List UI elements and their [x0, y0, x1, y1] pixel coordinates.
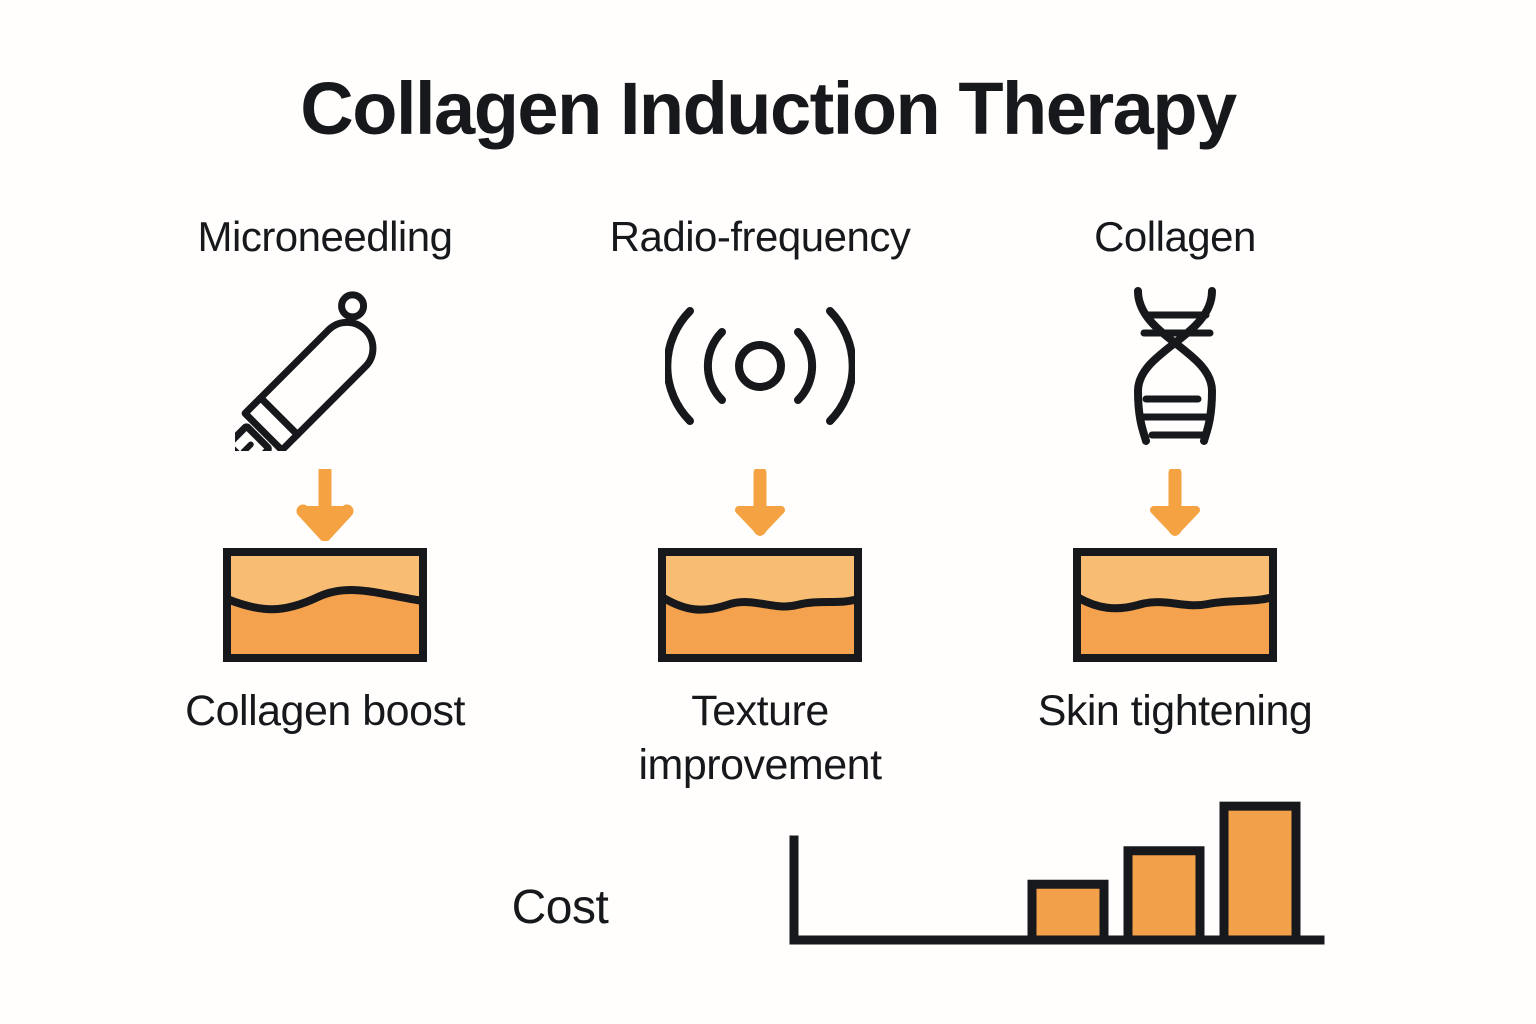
- infographic-canvas: Collagen Induction Therapy Microneedling: [0, 0, 1536, 1024]
- chart-bars: [1032, 806, 1296, 940]
- cost-bar-chart: [780, 770, 1340, 975]
- icon-slot-collagen: [980, 281, 1370, 461]
- down-arrow-icon: [730, 469, 790, 541]
- skin-slot-radio-frequency: [565, 547, 955, 663]
- skin-slot-collagen: [980, 547, 1370, 663]
- treatment-title-microneedling: Microneedling: [130, 215, 520, 259]
- column-collagen: Collagen: [980, 215, 1370, 739]
- result-label-collagen: Skin tightening: [980, 685, 1370, 739]
- column-microneedling: Microneedling: [130, 215, 520, 739]
- cost-bar: [1128, 851, 1200, 940]
- cost-bar: [1224, 806, 1296, 940]
- skin-layers-icon: [222, 547, 428, 663]
- result-line: Texture: [565, 685, 955, 739]
- treatment-title-radio-frequency: Radio-frequency: [565, 215, 955, 259]
- arrow-slot-radio-frequency: [565, 469, 955, 547]
- cost-label: Cost: [400, 880, 720, 935]
- result-line: Collagen boost: [130, 685, 520, 739]
- page-title: Collagen Induction Therapy: [0, 72, 1536, 146]
- skin-layers-icon: [657, 547, 863, 663]
- column-radio-frequency: Radio-frequency: [565, 215, 955, 793]
- arrow-slot-collagen: [980, 469, 1370, 547]
- arrow-slot-microneedling: [130, 469, 520, 547]
- result-line: Skin tightening: [980, 685, 1370, 739]
- dna-helix-icon: [1110, 281, 1240, 451]
- cost-chart-svg: [780, 770, 1340, 970]
- icon-slot-microneedling: [130, 281, 520, 461]
- skin-slot-microneedling: [130, 547, 520, 663]
- radio-frequency-waves-icon: [665, 291, 855, 441]
- down-arrow-icon: [1145, 469, 1205, 541]
- microneedling-pen-icon: [235, 281, 415, 451]
- treatment-title-collagen: Collagen: [980, 215, 1370, 259]
- skin-layers-icon: [1072, 547, 1278, 663]
- result-label-microneedling: Collagen boost: [130, 685, 520, 739]
- icon-slot-radio-frequency: [565, 291, 955, 471]
- down-arrow-icon: [295, 469, 355, 541]
- cost-bar: [1032, 884, 1104, 940]
